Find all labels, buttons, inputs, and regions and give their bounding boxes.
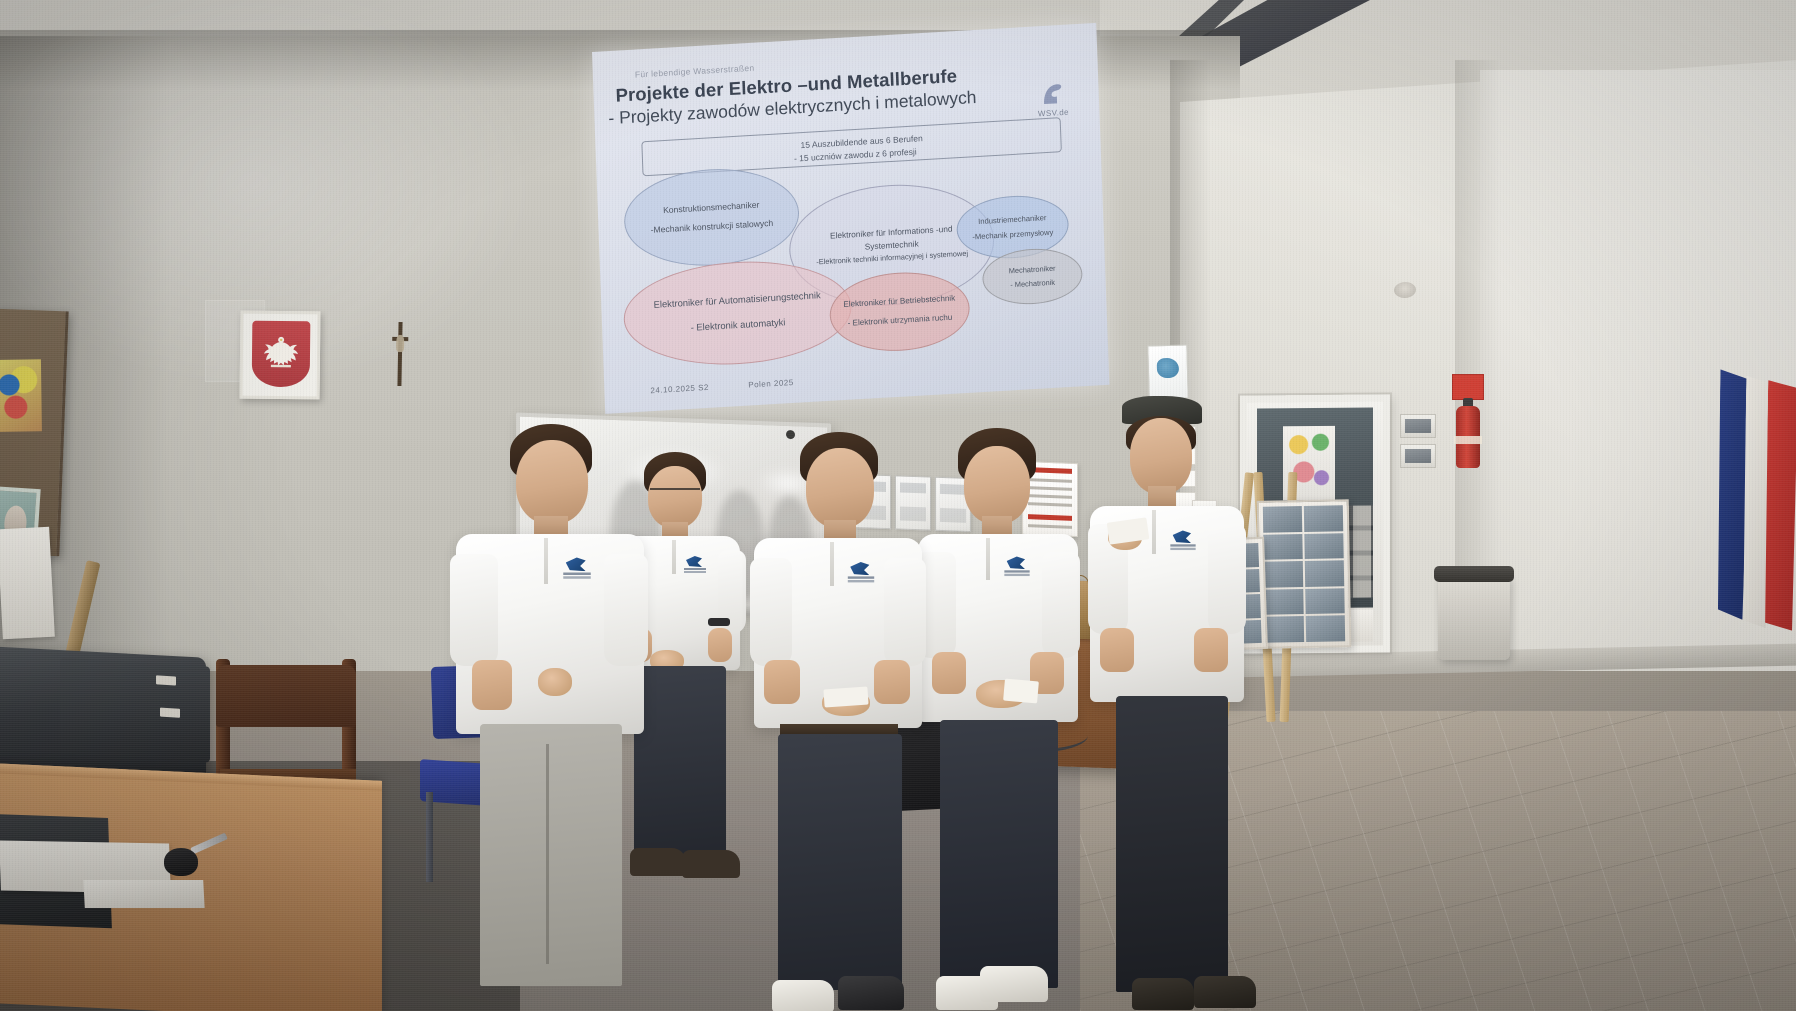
wsv-logo-badge (1170, 531, 1195, 554)
photo-cell (1264, 589, 1303, 615)
arm-right (604, 554, 648, 666)
cross-vertical (397, 322, 402, 386)
printer-label (156, 675, 176, 685)
desk-phone (83, 880, 204, 908)
photo-cell (1305, 588, 1344, 614)
forearm-left (932, 652, 966, 694)
glasses-icon (650, 488, 700, 496)
wsv-logo-badge (684, 556, 706, 576)
presentation-notes (1003, 679, 1039, 704)
head (648, 466, 702, 528)
chair-leg (426, 792, 433, 882)
head (1130, 418, 1192, 494)
exhibition-board-1 (1257, 499, 1352, 649)
wsv-logo-badge (563, 558, 591, 583)
classroom-presentation-scene: Für lebendige Wasserstraßen Projekte der… (0, 0, 1796, 1011)
forearm-right (708, 628, 732, 662)
photo-cell (1306, 616, 1345, 642)
wristwatch (708, 618, 730, 626)
sneaker-right (980, 966, 1048, 1002)
polo-placket (1152, 510, 1156, 554)
wsv-logo-mark (850, 562, 869, 575)
slide-ellipse-konstruktionsmechaniker: Konstruktionsmechaniker -Mechanik konstr… (623, 164, 801, 270)
presenter-3 (752, 432, 928, 1011)
shoe-left (1132, 978, 1194, 1010)
electrical-box-lower (1400, 444, 1436, 468)
ellipse-text-de: Elektroniker für Betriebstechnik (843, 293, 955, 312)
arm-right (884, 558, 926, 666)
slide-footer-event: Polen 2025 (748, 378, 794, 390)
fire-extinguisher (1452, 400, 1482, 482)
photo-cell (1263, 534, 1302, 560)
wall-papers (0, 527, 55, 640)
wsv-logo: WSV.de (1032, 80, 1073, 118)
polish-flag (1716, 369, 1796, 640)
forearm-left (472, 660, 512, 710)
wsv-logo-text (684, 568, 706, 570)
slide-ellipse-automatisierungstechnik: Elektroniker für Automatisierungstechnik… (622, 256, 853, 371)
sneaker-right (838, 976, 904, 1010)
photo-grid (1263, 505, 1345, 642)
shoe-right (1194, 976, 1256, 1008)
forearm-right (874, 660, 910, 704)
ellipse-text-de: Industriemechaniker (978, 212, 1047, 228)
ellipse-text-de: Elektroniker für Automatisierungstechnik (653, 289, 821, 313)
wsv-logo-mark (566, 558, 586, 572)
presentation-slide: Für lebendige Wasserstraßen Projekte der… (592, 23, 1109, 414)
sneaker-left (772, 980, 834, 1011)
wsv-logo-text (848, 576, 874, 578)
head (516, 440, 588, 524)
eagle-icon (257, 333, 305, 378)
ellipse-text-pl: - Mechatronik (1010, 277, 1055, 291)
wsv-logo-badge (848, 562, 874, 586)
wsv-logo-mark (1007, 557, 1025, 570)
arm-left (450, 554, 498, 666)
shoe-right (682, 850, 740, 878)
trousers (778, 734, 902, 990)
ellipse-text-de: Konstruktionsmechaniker (663, 198, 760, 217)
photo-cell (1304, 505, 1343, 531)
waste-bin-lid (1434, 566, 1514, 582)
hand-gesture (538, 668, 572, 696)
desk-keys (158, 836, 230, 876)
corkboard-artwork (0, 309, 69, 557)
trousers-jeans (480, 724, 622, 986)
flag-band-red (1764, 380, 1796, 630)
key-fob (164, 848, 198, 876)
waste-bin (1438, 576, 1510, 660)
wsv-logo-text (563, 573, 591, 576)
projection-screen: Für lebendige Wasserstraßen Projekte der… (592, 23, 1109, 414)
key-blade (190, 833, 228, 855)
electrical-box-face (1405, 419, 1431, 433)
extinguisher-label (1454, 436, 1482, 444)
fire-extinguisher-sign (1452, 374, 1484, 400)
arm-left (750, 558, 792, 666)
photo-cell (1263, 506, 1302, 532)
forearm-left (764, 660, 800, 704)
slide-footer-date: 24.10.2025 S2 (650, 383, 709, 395)
presenter-5 (1090, 396, 1258, 1011)
electrical-box-upper (1400, 414, 1436, 438)
trousers (1116, 696, 1228, 992)
polo-placket (544, 538, 548, 584)
eagle-shield (252, 321, 311, 388)
electrical-box-face (1405, 449, 1431, 463)
ellipse-text-pl: - Elektronik automatyki (690, 315, 785, 335)
polish-eagle-coat-of-arms (240, 311, 321, 400)
wall-poster-small (1147, 344, 1188, 399)
photo-cell (1305, 560, 1344, 586)
poster-graphic (1157, 358, 1180, 379)
ellipse-text-pl: -Mechanik przemysłowy (972, 226, 1053, 242)
arm-right (1042, 552, 1080, 658)
wsv-logo-text (1004, 570, 1029, 572)
wsv-logo-mark (1173, 531, 1191, 544)
forearm-right (1194, 628, 1228, 672)
wsv-logo-mark (686, 556, 702, 567)
photo-cell (1265, 616, 1304, 642)
presenter-1 (452, 424, 648, 1011)
wsv-logo-badge (1004, 557, 1029, 580)
polo-placket (672, 540, 676, 574)
head (806, 448, 874, 528)
slide-footer: 24.10.2025 S2 Polen 2025 (650, 378, 794, 395)
crucifix (391, 322, 408, 386)
photo-cell (1304, 533, 1343, 559)
arm-right (1208, 524, 1246, 634)
ellipse-text-pl: -Mechanik konstrukcji stalowych (650, 217, 773, 237)
head (964, 446, 1030, 524)
wsv-logo-text (1170, 544, 1195, 546)
trousers (940, 720, 1058, 988)
chair-backrest (216, 665, 356, 727)
printer-secondary (60, 657, 210, 762)
polo-placket (830, 542, 834, 586)
cross-figure (396, 335, 404, 352)
forearm-left (1100, 628, 1134, 672)
photo-cell (1264, 561, 1303, 587)
ellipse-text-pl: - Elektronik utrzymania ruchu (847, 312, 952, 331)
polo-placket (986, 538, 990, 580)
trouser-seam (546, 744, 549, 964)
presentation-notes (823, 686, 868, 707)
printer-label (160, 708, 180, 718)
presenter-4 (918, 428, 1086, 1011)
ellipse-text-de: Mechatroniker (1009, 262, 1056, 276)
child-artwork-1 (0, 359, 42, 432)
